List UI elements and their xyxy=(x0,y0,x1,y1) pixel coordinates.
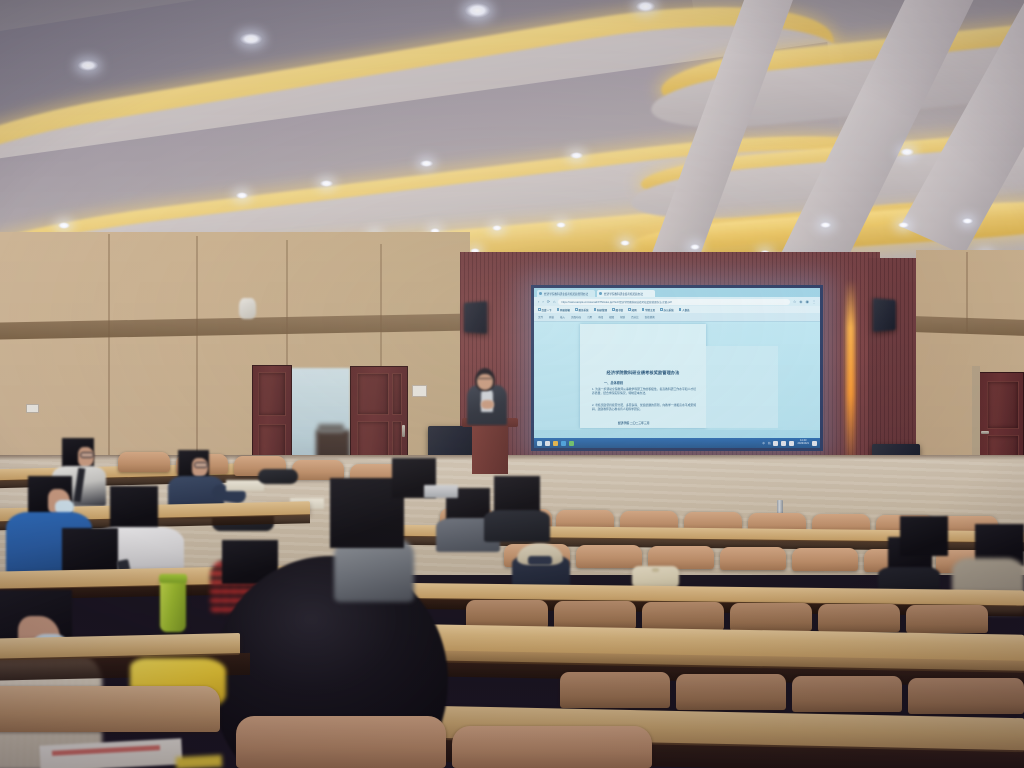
star-icon[interactable]: ☆ xyxy=(793,300,797,304)
downlight xyxy=(465,3,490,18)
document-paragraph: 2. 考核奖励坚持按劳分配、多劳多得、优绩优酬的原则，向教学一线和高水平成果倾斜… xyxy=(592,403,696,411)
toolbar-item[interactable]: 引用 xyxy=(587,315,592,319)
chair[interactable] xyxy=(560,672,670,708)
chair[interactable] xyxy=(236,716,446,768)
bookmarks-bar[interactable]: 百度一下 网易邮箱 教务系统 科研管理 图书馆 知网 学院主页 办公系统 人事处 xyxy=(534,306,820,313)
door-sign xyxy=(412,385,427,397)
toolbar-item[interactable]: 百分比 xyxy=(631,315,639,319)
bookmark-icon xyxy=(642,308,645,311)
speaker-glasses xyxy=(478,378,492,382)
wall-amber-light xyxy=(846,280,855,470)
projection-screen[interactable]: 经济学院教科研业绩考核奖励管理办法 经济学院教科研业绩考核奖励办法 ‹ › ⟳ … xyxy=(531,285,823,451)
document-toolbar[interactable]: 文件 开始 插入 页面布局 引用 审阅 视图 帮助 百分比 查找替换 xyxy=(534,313,820,322)
chair[interactable] xyxy=(576,545,642,568)
reload-icon[interactable]: ⟳ xyxy=(547,300,550,304)
ime-mode[interactable]: 简 xyxy=(768,441,771,445)
browser-tab-1[interactable]: 经济学院教科研业绩考核奖励管理办法 xyxy=(537,290,595,297)
toolbar-item[interactable]: 开始 xyxy=(549,315,554,319)
bookmark-icon xyxy=(594,308,597,311)
open-notebook xyxy=(226,480,264,491)
wall-speaker-right xyxy=(873,298,896,332)
downlight xyxy=(620,240,630,246)
document-title: 经济学院教科研业绩考核奖励管理办法 xyxy=(580,370,706,376)
downlight xyxy=(78,60,98,71)
tab-favicon xyxy=(599,292,602,295)
bookmark-icon xyxy=(660,308,663,311)
notifications-icon[interactable] xyxy=(812,441,817,446)
chair[interactable] xyxy=(720,547,786,570)
network-icon[interactable] xyxy=(781,441,786,446)
audience-white-shirt-head xyxy=(110,486,158,532)
browser-tab-2-label: 经济学院教科研业绩考核奖励办法 xyxy=(604,292,643,296)
toolbar-item[interactable]: 视图 xyxy=(609,315,614,319)
tray-icon[interactable] xyxy=(773,441,778,446)
toolbar-item[interactable]: 查找替换 xyxy=(645,315,655,319)
volume-icon[interactable] xyxy=(789,441,794,446)
toolbar-item[interactable]: 帮助 xyxy=(620,315,625,319)
home-icon[interactable]: ⌂ xyxy=(553,300,555,304)
document-canvas[interactable]: 经济学院教科研业绩考核奖励管理办法 一、总体原则 1. 为进一步调动全院教师从事… xyxy=(534,322,820,430)
audience-back-left-glasses xyxy=(80,452,94,458)
wall-speaker-left xyxy=(239,298,256,319)
bookmark-icon xyxy=(557,308,560,311)
projected-desktop: 经济学院教科研业绩考核奖励管理办法 经济学院教科研业绩考核奖励办法 ‹ › ⟳ … xyxy=(534,288,820,448)
chair[interactable] xyxy=(676,674,786,710)
downlight xyxy=(690,244,700,250)
handbag-clasp xyxy=(652,568,659,572)
yellow-marker xyxy=(176,755,223,768)
green-water-bottle[interactable] xyxy=(160,578,186,632)
document-paragraph: 1. 为进一步调动全院教师从事教学科研工作的积极性，提高教科研工作水平和人才培养… xyxy=(592,387,696,395)
windows-start-icon[interactable] xyxy=(537,441,542,446)
clock-date: 2023/3/21 xyxy=(797,443,809,446)
downlight xyxy=(320,180,333,187)
laptop-open[interactable] xyxy=(424,485,458,498)
audience-back-navy-glasses xyxy=(194,462,208,468)
bookmark-item[interactable]: 网易邮箱 xyxy=(557,308,571,312)
document-footer-note: 经济学院 二〇二三年三月 xyxy=(618,421,650,425)
downlight xyxy=(962,218,973,224)
downlight xyxy=(236,192,248,199)
downlight xyxy=(900,148,914,156)
bookmark-item[interactable]: 办公系统 xyxy=(660,308,674,312)
toolbar-item[interactable]: 插入 xyxy=(560,315,565,319)
toolbar-item[interactable]: 页面布局 xyxy=(571,315,581,319)
url-input[interactable]: https://mail.example.cn/coremail/XT5/ind… xyxy=(558,299,789,305)
downlight xyxy=(420,160,433,167)
chair[interactable] xyxy=(118,452,170,472)
extensions-icon[interactable]: ◈ xyxy=(799,300,802,304)
tab-favicon xyxy=(539,292,542,295)
bookmark-item[interactable]: 学院主页 xyxy=(642,308,656,312)
downlight xyxy=(240,33,262,45)
chair[interactable] xyxy=(466,600,548,628)
chair[interactable] xyxy=(554,601,636,629)
ime-label[interactable]: 中 xyxy=(762,441,765,445)
toolbar-item[interactable]: 文件 xyxy=(538,315,543,319)
browser-tab-1-label: 经济学院教科研业绩考核奖励管理办法 xyxy=(544,292,588,296)
bookmark-item[interactable]: 百度一下 xyxy=(538,308,552,312)
bookmark-icon xyxy=(575,308,578,311)
chair[interactable] xyxy=(818,604,900,632)
menu-icon[interactable]: ⋮ xyxy=(812,300,816,304)
back-icon[interactable]: ‹ xyxy=(538,300,539,304)
bookmark-item[interactable]: 人事处 xyxy=(679,308,690,312)
downlight xyxy=(492,225,502,231)
wechat-icon[interactable] xyxy=(569,441,574,446)
bottle-cap xyxy=(159,574,187,583)
door-handle-right[interactable] xyxy=(981,431,989,434)
browser-tab-strip[interactable]: 经济学院教科研业绩考核奖励管理办法 经济学院教科研业绩考核奖励办法 xyxy=(534,288,820,297)
taskbar[interactable]: 中 简 14:43 2023/3/21 xyxy=(534,438,820,448)
clock[interactable]: 14:43 2023/3/21 xyxy=(797,440,809,446)
document-section-heading: 一、总体原则 xyxy=(604,380,623,385)
ceiling xyxy=(0,0,1024,262)
audience-body xyxy=(484,510,550,542)
audience-head xyxy=(900,516,948,556)
search-icon[interactable] xyxy=(545,441,550,446)
document-page-next xyxy=(706,346,778,428)
speaker-hands xyxy=(481,400,494,409)
browser-icon[interactable] xyxy=(553,441,558,446)
chair[interactable] xyxy=(908,678,1024,714)
account-icon[interactable]: ◉ xyxy=(806,300,810,304)
bookmark-icon xyxy=(612,308,615,311)
bookmark-icon xyxy=(628,308,631,311)
forward-icon[interactable]: › xyxy=(542,300,543,304)
downlight xyxy=(58,222,70,229)
black-backpack xyxy=(258,469,298,484)
chair[interactable] xyxy=(792,676,902,712)
explorer-icon[interactable] xyxy=(561,441,566,446)
lecture-hall-photo: 经济学院教科研业绩考核奖励管理办法 经济学院教科研业绩考核奖励办法 ‹ › ⟳ … xyxy=(0,0,1024,768)
chair[interactable] xyxy=(642,602,724,630)
downlight xyxy=(556,222,566,228)
chair[interactable] xyxy=(0,686,220,732)
wall-outlet-plate xyxy=(26,404,39,413)
downlight xyxy=(636,1,655,12)
chair[interactable] xyxy=(906,605,988,633)
bookmark-icon xyxy=(538,308,541,311)
toolbar-item[interactable]: 审阅 xyxy=(598,315,603,319)
door-handle[interactable] xyxy=(402,425,405,437)
podium-body xyxy=(472,426,508,474)
browser-tab-2[interactable]: 经济学院教科研业绩考核奖励办法 xyxy=(597,290,655,297)
speaker-face xyxy=(477,374,493,390)
bookmark-item[interactable]: 科研管理 xyxy=(594,308,608,312)
cap-back-strap xyxy=(528,556,552,565)
bookmark-item[interactable]: 图书馆 xyxy=(612,308,623,312)
document-page: 经济学院教科研业绩考核奖励管理办法 一、总体原则 1. 为进一步调动全院教师从事… xyxy=(580,324,706,428)
chair[interactable] xyxy=(292,460,344,480)
bookmark-item[interactable]: 教务系统 xyxy=(575,308,589,312)
bookmark-icon xyxy=(679,308,682,311)
wall-speaker-center xyxy=(464,301,487,334)
downlight xyxy=(898,222,909,228)
chair[interactable] xyxy=(730,603,812,631)
chair[interactable] xyxy=(452,726,652,768)
downlight xyxy=(570,152,583,159)
bookmark-item[interactable]: 知网 xyxy=(628,308,637,312)
chair[interactable] xyxy=(792,548,858,571)
browser-address-bar[interactable]: ‹ › ⟳ ⌂ https://mail.example.cn/coremail… xyxy=(534,297,820,306)
downlight xyxy=(820,222,831,228)
